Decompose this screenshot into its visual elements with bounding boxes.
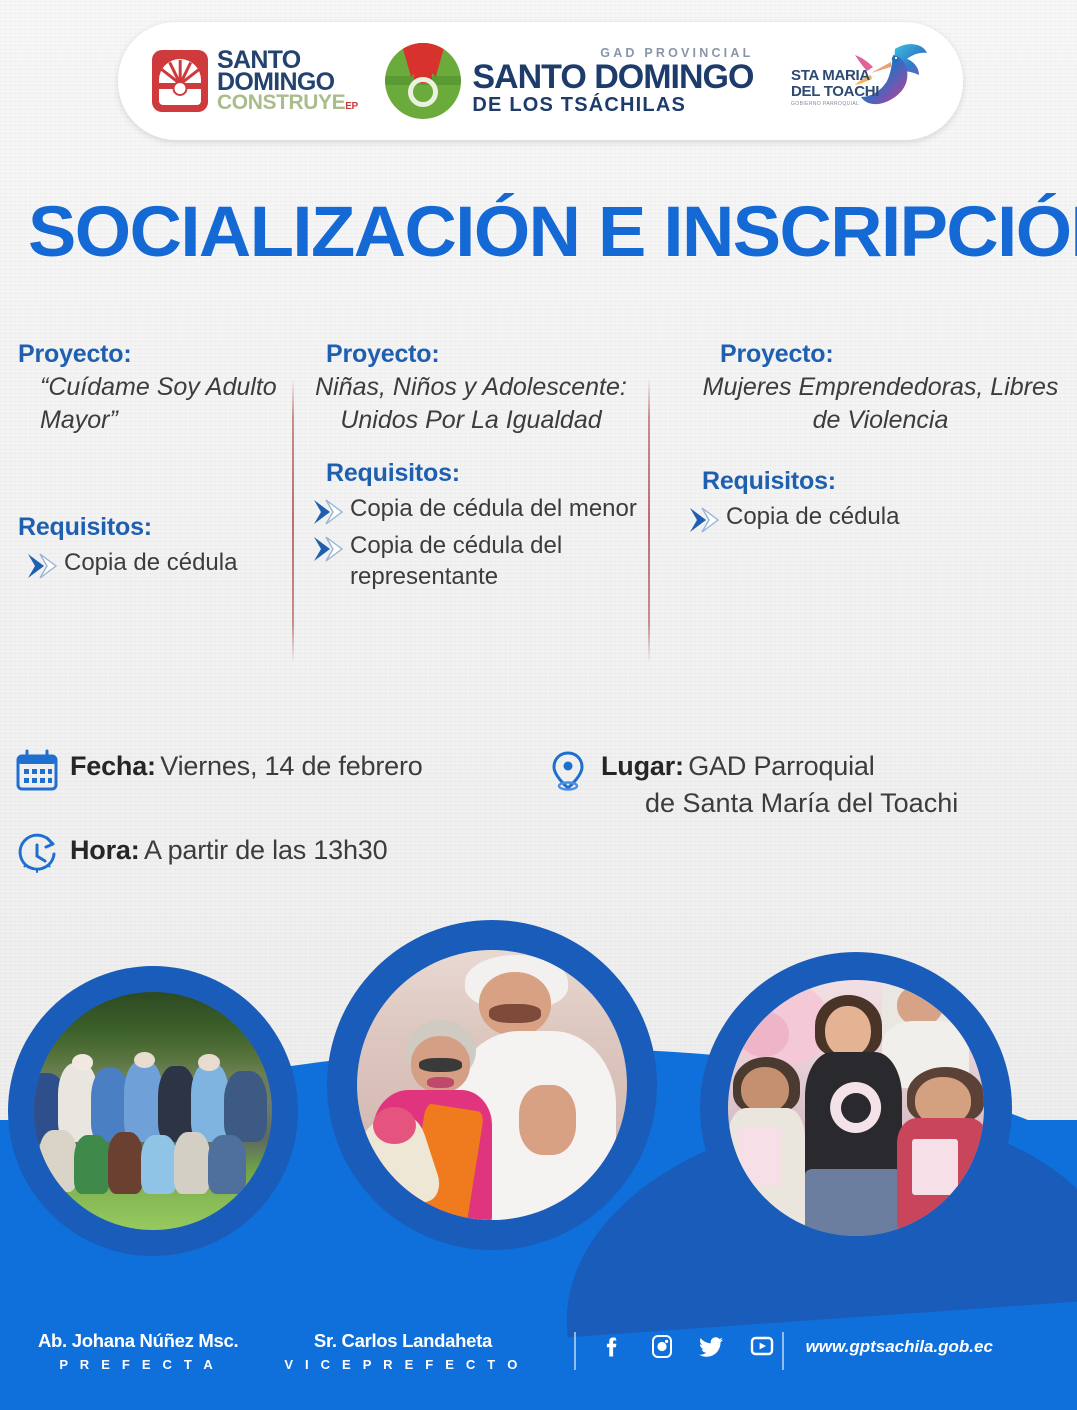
projects-section: Proyecto: “Cuídame Soy Adulto Mayor” Req… xyxy=(0,340,1077,700)
logo3-line3: GOBIERNO PARROQUIAL xyxy=(791,102,879,107)
photo-children-group xyxy=(34,992,272,1230)
social-links xyxy=(598,1332,776,1360)
website-url[interactable]: www.gptsachila.gob.ec xyxy=(806,1337,993,1357)
logo3-line1: STA MARIA xyxy=(791,69,879,83)
requirements-list-3: Copia de cédula xyxy=(688,502,1077,535)
project-label-1: Proyecto: xyxy=(18,340,292,369)
project-label-3: Proyecto: xyxy=(720,340,1077,369)
lugar-value-2: de Santa María del Toachi xyxy=(645,788,958,819)
lugar-value: GAD Parroquial xyxy=(688,751,874,781)
requirement-item: Copia de cédula xyxy=(688,502,1077,535)
logo-sta-maria-del-toachi: STA MARIA DEL TOACHI GOBIERNO PARROQUIAL xyxy=(781,35,929,127)
detail-lugar: Lugar: GAD Parroquial de Santa María del… xyxy=(545,748,958,819)
santo-domingo-construye-mark-icon xyxy=(152,50,208,112)
chevron-right-icon xyxy=(312,497,346,527)
youtube-icon[interactable] xyxy=(748,1332,776,1360)
requirements-list-2: Copia de cédula del menor Copia de cédul… xyxy=(312,494,648,592)
requirement-text: Copia de cédula del menor xyxy=(346,494,637,525)
requirement-item: Copia de cédula del menor xyxy=(312,494,648,527)
photo-circle-2 xyxy=(327,920,657,1250)
photo-circle-3 xyxy=(700,952,1012,1264)
requirement-item: Copia de cédula xyxy=(18,548,292,581)
requirements-label-3: Requisitos: xyxy=(702,467,1077,496)
detail-hora: Hora: A partir de las 13h30 xyxy=(14,832,387,878)
requirements-label-1: Requisitos: xyxy=(18,513,292,542)
sta-maria-badge: STA MARIA DEL TOACHI GOBIERNO PARROQUIAL xyxy=(791,69,879,106)
project-column-2: Proyecto: Niñas, Niños y Adolescente: Un… xyxy=(292,340,648,700)
requirements-label-2: Requisitos: xyxy=(326,459,648,488)
facebook-icon[interactable] xyxy=(598,1332,626,1360)
signatory-role: P R E F E C T A xyxy=(38,1357,238,1372)
logo-gad-provincial: GAD PROVINCIAL SANTO DOMINGO DE LOS TSÁC… xyxy=(385,43,753,119)
poster-root: SANTO DOMINGO CONSTRUYEEP GAD PROVINCIAL… xyxy=(0,0,1077,1410)
gad-provincial-mark-icon xyxy=(385,43,461,119)
hora-label: Hora: xyxy=(70,835,140,865)
requirement-item: Copia de cédula del representante xyxy=(312,531,648,592)
photo-circle-1 xyxy=(8,966,298,1256)
footer-divider-right xyxy=(782,1332,784,1370)
logo-santo-domingo-construye: SANTO DOMINGO CONSTRUYEEP xyxy=(152,49,358,112)
lugar-label: Lugar: xyxy=(601,751,684,781)
logo-bar: SANTO DOMINGO CONSTRUYEEP GAD PROVINCIAL… xyxy=(118,22,963,140)
page-title: SOCIALIZACIÓN E INSCRIPCIÓN xyxy=(28,192,1068,273)
chevron-right-icon xyxy=(688,505,722,535)
chevron-right-icon xyxy=(312,534,346,564)
project-column-1: Proyecto: “Cuídame Soy Adulto Mayor” Req… xyxy=(0,340,292,700)
location-pin-icon xyxy=(545,748,591,794)
signatory-name: Sr. Carlos Landaheta xyxy=(284,1330,521,1352)
calendar-icon xyxy=(14,748,60,794)
signatory-name: Ab. Johana Núñez Msc. xyxy=(38,1330,238,1352)
project-name-2: Niñas, Niños y Adolescente: Unidos Por L… xyxy=(312,371,648,437)
logo1-line3: CONSTRUYE xyxy=(217,91,345,114)
project-column-3: Proyecto: Mujeres Emprendedoras, Libres … xyxy=(648,340,1077,700)
chevron-right-icon xyxy=(26,551,60,581)
logo1-suffix: EP xyxy=(345,101,358,112)
clock-icon xyxy=(14,832,60,878)
photo-elderly-woman-with-man xyxy=(357,950,627,1220)
project-label-2: Proyecto: xyxy=(326,340,648,369)
instagram-icon[interactable] xyxy=(648,1332,676,1360)
project-name-1: “Cuídame Soy Adulto Mayor” xyxy=(18,371,292,437)
fecha-label: Fecha: xyxy=(70,751,156,781)
detail-fecha: Fecha: Viernes, 14 de febrero xyxy=(14,748,423,794)
twitter-icon[interactable] xyxy=(698,1332,726,1360)
requirement-text: Copia de cédula xyxy=(60,548,237,579)
logo3-line2: DEL TOACHI xyxy=(791,85,879,99)
signatory-prefecta: Ab. Johana Núñez Msc. P R E F E C T A xyxy=(38,1330,238,1372)
logo1-line2: DOMINGO xyxy=(217,71,358,93)
photo-gallery xyxy=(0,900,1077,1320)
signatory-role: V I C E P R E F E C T O xyxy=(284,1357,521,1372)
hora-value: A partir de las 13h30 xyxy=(144,835,387,865)
footer-divider-left xyxy=(574,1332,576,1370)
project-name-3: Mujeres Emprendedoras, Libres de Violenc… xyxy=(688,371,1077,437)
fecha-value: Viernes, 14 de febrero xyxy=(160,751,422,781)
requirement-text: Copia de cédula del representante xyxy=(346,531,648,592)
logo2-line1: SANTO DOMINGO xyxy=(472,62,753,94)
signatory-viceprefecto: Sr. Carlos Landaheta V I C E P R E F E C… xyxy=(284,1330,521,1372)
logo2-line2: DE LOS TSÁCHILAS xyxy=(472,95,753,115)
footer-bar: Ab. Johana Núñez Msc. P R E F E C T A Sr… xyxy=(0,1318,1077,1410)
photo-women-with-gifts xyxy=(728,980,984,1236)
requirement-text: Copia de cédula xyxy=(722,502,899,533)
requirements-list-1: Copia de cédula xyxy=(18,548,292,581)
